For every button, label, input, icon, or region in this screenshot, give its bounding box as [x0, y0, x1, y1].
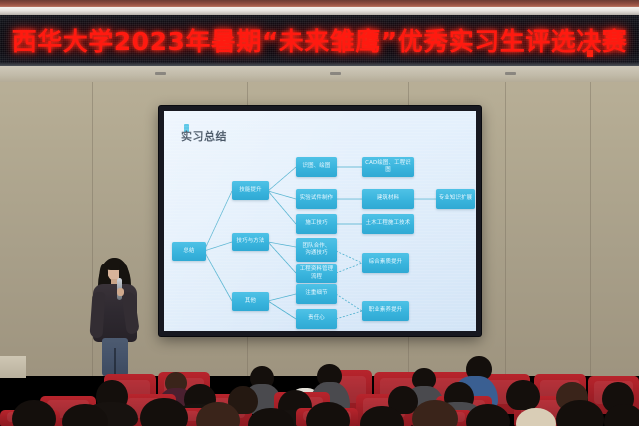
- led-banner-panel: 西华大学2023年暑期“未来雏鹰”优秀实习生评选决赛: [0, 15, 639, 65]
- mindmap-node-outcome-1: CAD绘图、工程识图: [362, 157, 414, 177]
- audience-head: [506, 380, 540, 410]
- mindmap-node-method-1: 团队合作、 沟通技巧: [296, 238, 337, 262]
- mindmap-node-other-1: 注重细节: [296, 284, 337, 304]
- led-banner-text: 西华大学2023年暑期“未来雏鹰”优秀实习生评选决赛: [12, 22, 627, 58]
- audience-area: [0, 352, 639, 426]
- mindmap-node-root: 总结: [172, 242, 206, 261]
- auditorium-scene: 西华大学2023年暑期“未来雏鹰”优秀实习生评选决赛 实习总结: [0, 0, 639, 426]
- wall-panel-seam: [590, 82, 591, 376]
- mindmap-node-method-2: 工程资料管理流程: [296, 264, 337, 283]
- mindmap-node-skill-2: 实验试件制作: [296, 189, 337, 209]
- mindmap-node-outcome-3: 土木工程施工技术: [362, 214, 414, 234]
- mindmap-node-branch-skills: 技能提升: [232, 181, 269, 200]
- mindmap-node-method-1-line2: 沟通技巧: [305, 250, 327, 257]
- mindmap-node-skill-3: 施工技巧: [296, 214, 337, 234]
- wall-panel-seam: [505, 82, 506, 376]
- led-cursor-block: [587, 50, 593, 57]
- display-screen-bezel: 实习总结: [159, 106, 481, 336]
- mind-map: 总结 技能提升 技巧与方法 其他 识图、绘图 实验试件制作 施工技巧 团队合作、…: [164, 111, 476, 331]
- wall-vent-icon: [155, 72, 166, 75]
- mindmap-node-branch-other: 其他: [232, 292, 269, 311]
- mindmap-node-outcome-2: 建筑材料: [362, 189, 414, 209]
- presenter-hand: [117, 288, 124, 296]
- wall-vent-icon: [505, 72, 516, 75]
- mindmap-node-other-2: 责任心: [296, 309, 337, 329]
- mindmap-node-outcome-6: 专业知识扩展: [436, 189, 475, 209]
- mindmap-node-skill-1: 识图、绘图: [296, 157, 337, 177]
- mindmap-node-outcome-4: 综合素质提升: [362, 253, 409, 273]
- wall-soffit: [0, 66, 639, 82]
- presentation-slide: 实习总结: [164, 111, 476, 331]
- mindmap-node-outcome-5: 职业素养提升: [362, 301, 409, 321]
- wall-vent-icon: [330, 72, 341, 75]
- mindmap-node-method-1-line1: 团队合作、: [303, 243, 331, 250]
- mindmap-node-branch-methods: 技巧与方法: [232, 233, 269, 251]
- ceiling-trim: [0, 7, 639, 15]
